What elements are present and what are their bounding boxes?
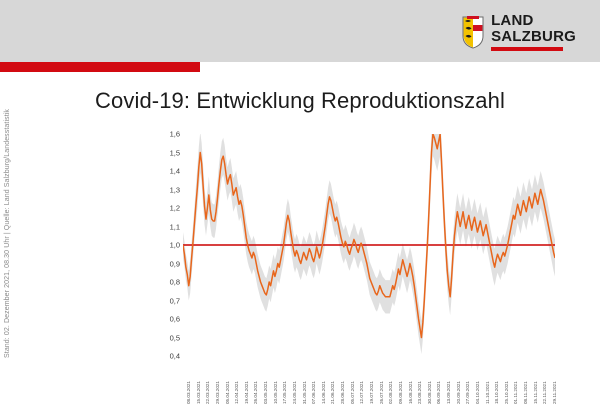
x-axis-tick: 12.07.2021	[359, 381, 364, 404]
y-axis-tick: 0,8	[170, 278, 180, 287]
y-axis-tick: 0,4	[170, 352, 180, 361]
x-axis-tick: 22.03.2021	[205, 381, 210, 404]
y-axis-tick: 0,7	[170, 296, 180, 305]
x-axis-tick: 22.11.2021	[542, 381, 547, 404]
y-axis-tick: 0,6	[170, 315, 180, 324]
x-axis-tick: 17.05.2021	[282, 381, 287, 404]
x-axis-tick: 21.06.2021	[330, 381, 335, 404]
x-axis-tick: 29.03.2021	[215, 381, 220, 404]
y-axis-labels: 1,61,51,41,31,21,11,00,90,80,70,60,50,4	[150, 128, 180, 362]
x-axis-tick: 24.05.2021	[292, 381, 297, 404]
x-axis-tick: 15.03.2021	[196, 381, 201, 404]
x-axis-tick: 07.06.2021	[311, 381, 316, 404]
reproduction-number-chart: 1,61,51,41,31,21,11,00,90,80,70,60,50,4 …	[150, 128, 570, 386]
x-axis-tick: 18.10.2021	[494, 381, 499, 404]
plot-area	[183, 134, 555, 356]
chart-svg	[183, 134, 555, 356]
x-axis-tick: 11.10.2021	[485, 381, 490, 404]
x-axis-tick: 27.09.2021	[465, 381, 470, 404]
x-axis-tick: 03.05.2021	[263, 381, 268, 404]
x-axis-tick: 20.09.2021	[456, 381, 461, 404]
source-credit: Stand: 02. Dezember 2021, 08.30 Uhr | Qu…	[4, 109, 11, 358]
x-axis-tick: 05.07.2021	[350, 381, 355, 404]
x-axis-tick: 15.11.2021	[533, 381, 538, 404]
y-axis-tick: 1,0	[170, 241, 180, 250]
x-axis-labels: 08.03.202115.03.202122.03.202129.03.2021…	[183, 358, 555, 404]
land-salzburg-logo: LAND SALZBURG	[462, 12, 576, 52]
logo-wordmark: LAND SALZBURG	[491, 13, 576, 51]
x-axis-tick: 13.09.2021	[446, 381, 451, 404]
y-axis-tick: 1,2	[170, 204, 180, 213]
reproduction-number-line	[183, 134, 555, 338]
logo-underline	[491, 47, 563, 51]
x-axis-tick: 26.07.2021	[379, 381, 384, 404]
x-axis-tick: 01.11.2021	[513, 381, 518, 404]
confidence-band	[183, 134, 555, 354]
x-axis-tick: 30.08.2021	[427, 381, 432, 404]
x-axis-tick: 09.08.2021	[398, 381, 403, 404]
y-axis-tick: 1,1	[170, 222, 180, 231]
logo-line-1: LAND	[491, 13, 576, 28]
x-axis-tick: 25.10.2021	[504, 381, 509, 404]
y-axis-tick: 0,9	[170, 259, 180, 268]
x-axis-tick: 29.11.2021	[552, 381, 557, 404]
y-axis-tick: 1,6	[170, 130, 180, 139]
x-axis-tick: 06.09.2021	[436, 381, 441, 404]
x-axis-tick: 28.06.2021	[340, 381, 345, 404]
x-axis-tick: 08.03.2021	[186, 381, 191, 404]
y-axis-tick: 1,4	[170, 167, 180, 176]
x-axis-tick: 10.05.2021	[273, 381, 278, 404]
logo-line-2: SALZBURG	[491, 29, 576, 44]
y-axis-tick: 1,5	[170, 148, 180, 157]
x-axis-tick: 08.11.2021	[523, 381, 528, 404]
x-axis-tick: 04.10.2021	[475, 381, 480, 404]
x-axis-tick: 12.04.2021	[234, 381, 239, 404]
x-axis-tick: 14.06.2021	[321, 381, 326, 404]
salzburg-coat-of-arms-icon	[462, 16, 484, 49]
x-axis-tick: 19.04.2021	[244, 381, 249, 404]
y-axis-tick: 0,5	[170, 333, 180, 342]
x-axis-tick: 05.04.2021	[225, 381, 230, 404]
x-axis-tick: 02.08.2021	[388, 381, 393, 404]
x-axis-tick: 16.08.2021	[408, 381, 413, 404]
x-axis-tick: 31.05.2021	[302, 381, 307, 404]
header-accent-rule	[0, 62, 200, 72]
x-axis-tick: 23.08.2021	[417, 381, 422, 404]
x-axis-tick: 26.04.2021	[253, 381, 258, 404]
y-axis-tick: 1,3	[170, 185, 180, 194]
page-title: Covid-19: Entwicklung Reproduktionszahl	[0, 88, 600, 114]
x-axis-tick: 19.07.2021	[369, 381, 374, 404]
